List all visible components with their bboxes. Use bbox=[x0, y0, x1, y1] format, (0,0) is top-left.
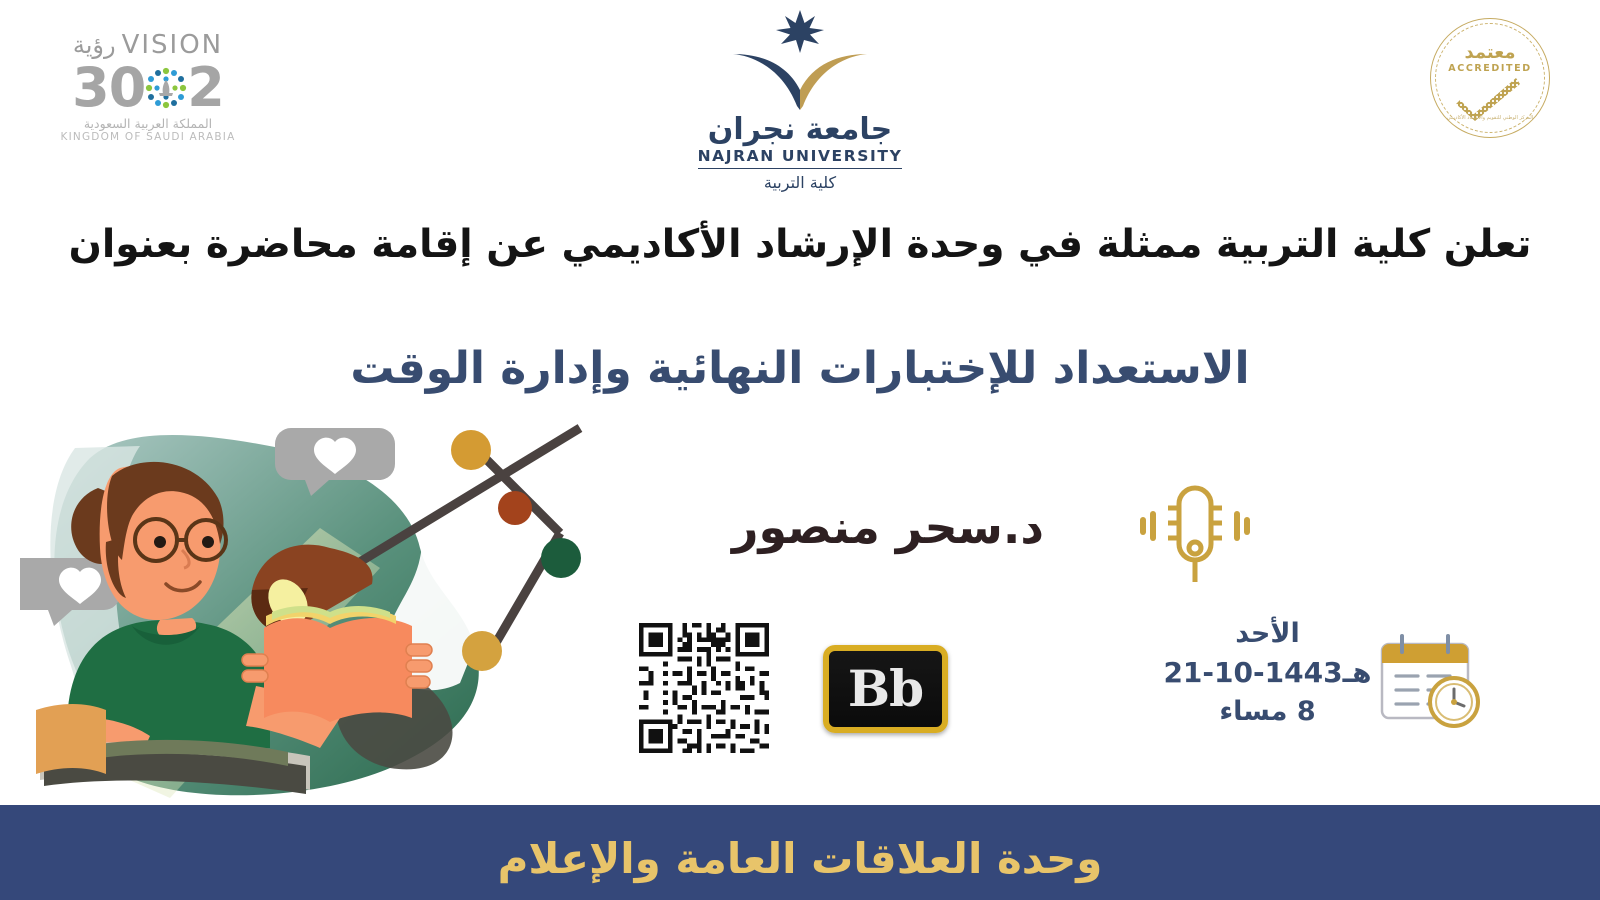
vision-word-ar: رؤية bbox=[73, 31, 116, 59]
poster-canvas: VISION رؤية 2 bbox=[0, 0, 1600, 900]
node-gold-bottom bbox=[462, 631, 502, 671]
saudi-palm-emblem-icon bbox=[143, 65, 189, 111]
microphone-icon bbox=[1135, 478, 1255, 588]
announcement-headline: تعلن كلية التربية ممثلة في وحدة الإرشاد … bbox=[0, 222, 1600, 267]
seal-label-ar: معتمد bbox=[1430, 42, 1550, 63]
open-book-swoosh-icon bbox=[685, 50, 915, 112]
accreditation-seal: معتمد ACCREDITED المركز الوطني للتقويم و… bbox=[1430, 18, 1550, 138]
vision-2030-logo: VISION رؤية 2 bbox=[58, 28, 238, 153]
calendar-clock-icon bbox=[1372, 630, 1487, 735]
schedule-date: 21-10-1443هـ bbox=[1160, 653, 1375, 693]
qr-code-icon[interactable] bbox=[634, 618, 774, 758]
vision-year-left: 2 bbox=[187, 61, 224, 115]
university-name-ar: جامعة نجران bbox=[685, 114, 915, 146]
vision-subtitle-en: KINGDOM OF SAUDI ARABIA bbox=[58, 131, 238, 143]
seal-caption-ar: المركز الوطني للتقويم والاعتماد الأكاديم… bbox=[1430, 115, 1550, 123]
najran-university-logo: جامعة نجران NAJRAN UNIVERSITY كلية الترب… bbox=[685, 10, 915, 192]
footer-unit-name: وحدة العلاقات العامة والإعلام bbox=[498, 834, 1103, 883]
schedule-block: الأحد 21-10-1443هـ 8 مساء bbox=[1160, 615, 1375, 731]
footer-band: وحدة العلاقات العامة والإعلام bbox=[0, 805, 1600, 900]
seal-label-en: ACCREDITED bbox=[1430, 63, 1550, 74]
schedule-time: 8 مساء bbox=[1160, 693, 1375, 731]
schedule-day: الأحد bbox=[1160, 615, 1375, 653]
vision-year-right: 30 bbox=[72, 61, 145, 115]
lecture-title: الاستعداد للإختبارات النهائية وإدارة الو… bbox=[0, 343, 1600, 394]
blackboard-wordmark: Bb bbox=[848, 664, 923, 714]
university-name-en: NAJRAN UNIVERSITY bbox=[698, 147, 903, 169]
vision-year: 2 30 bbox=[58, 62, 238, 114]
blackboard-logo[interactable]: Bb bbox=[823, 645, 948, 733]
speaker-name: د.سحر منصور bbox=[718, 500, 1058, 554]
node-green bbox=[541, 538, 581, 578]
vision-subtitle-ar: المملكة العربية السعودية bbox=[58, 116, 238, 131]
student-reading-illustration bbox=[20, 418, 600, 808]
node-rust bbox=[498, 491, 532, 525]
node-gold-top bbox=[451, 430, 491, 470]
faculty-name-ar: كلية التربية bbox=[685, 173, 915, 192]
